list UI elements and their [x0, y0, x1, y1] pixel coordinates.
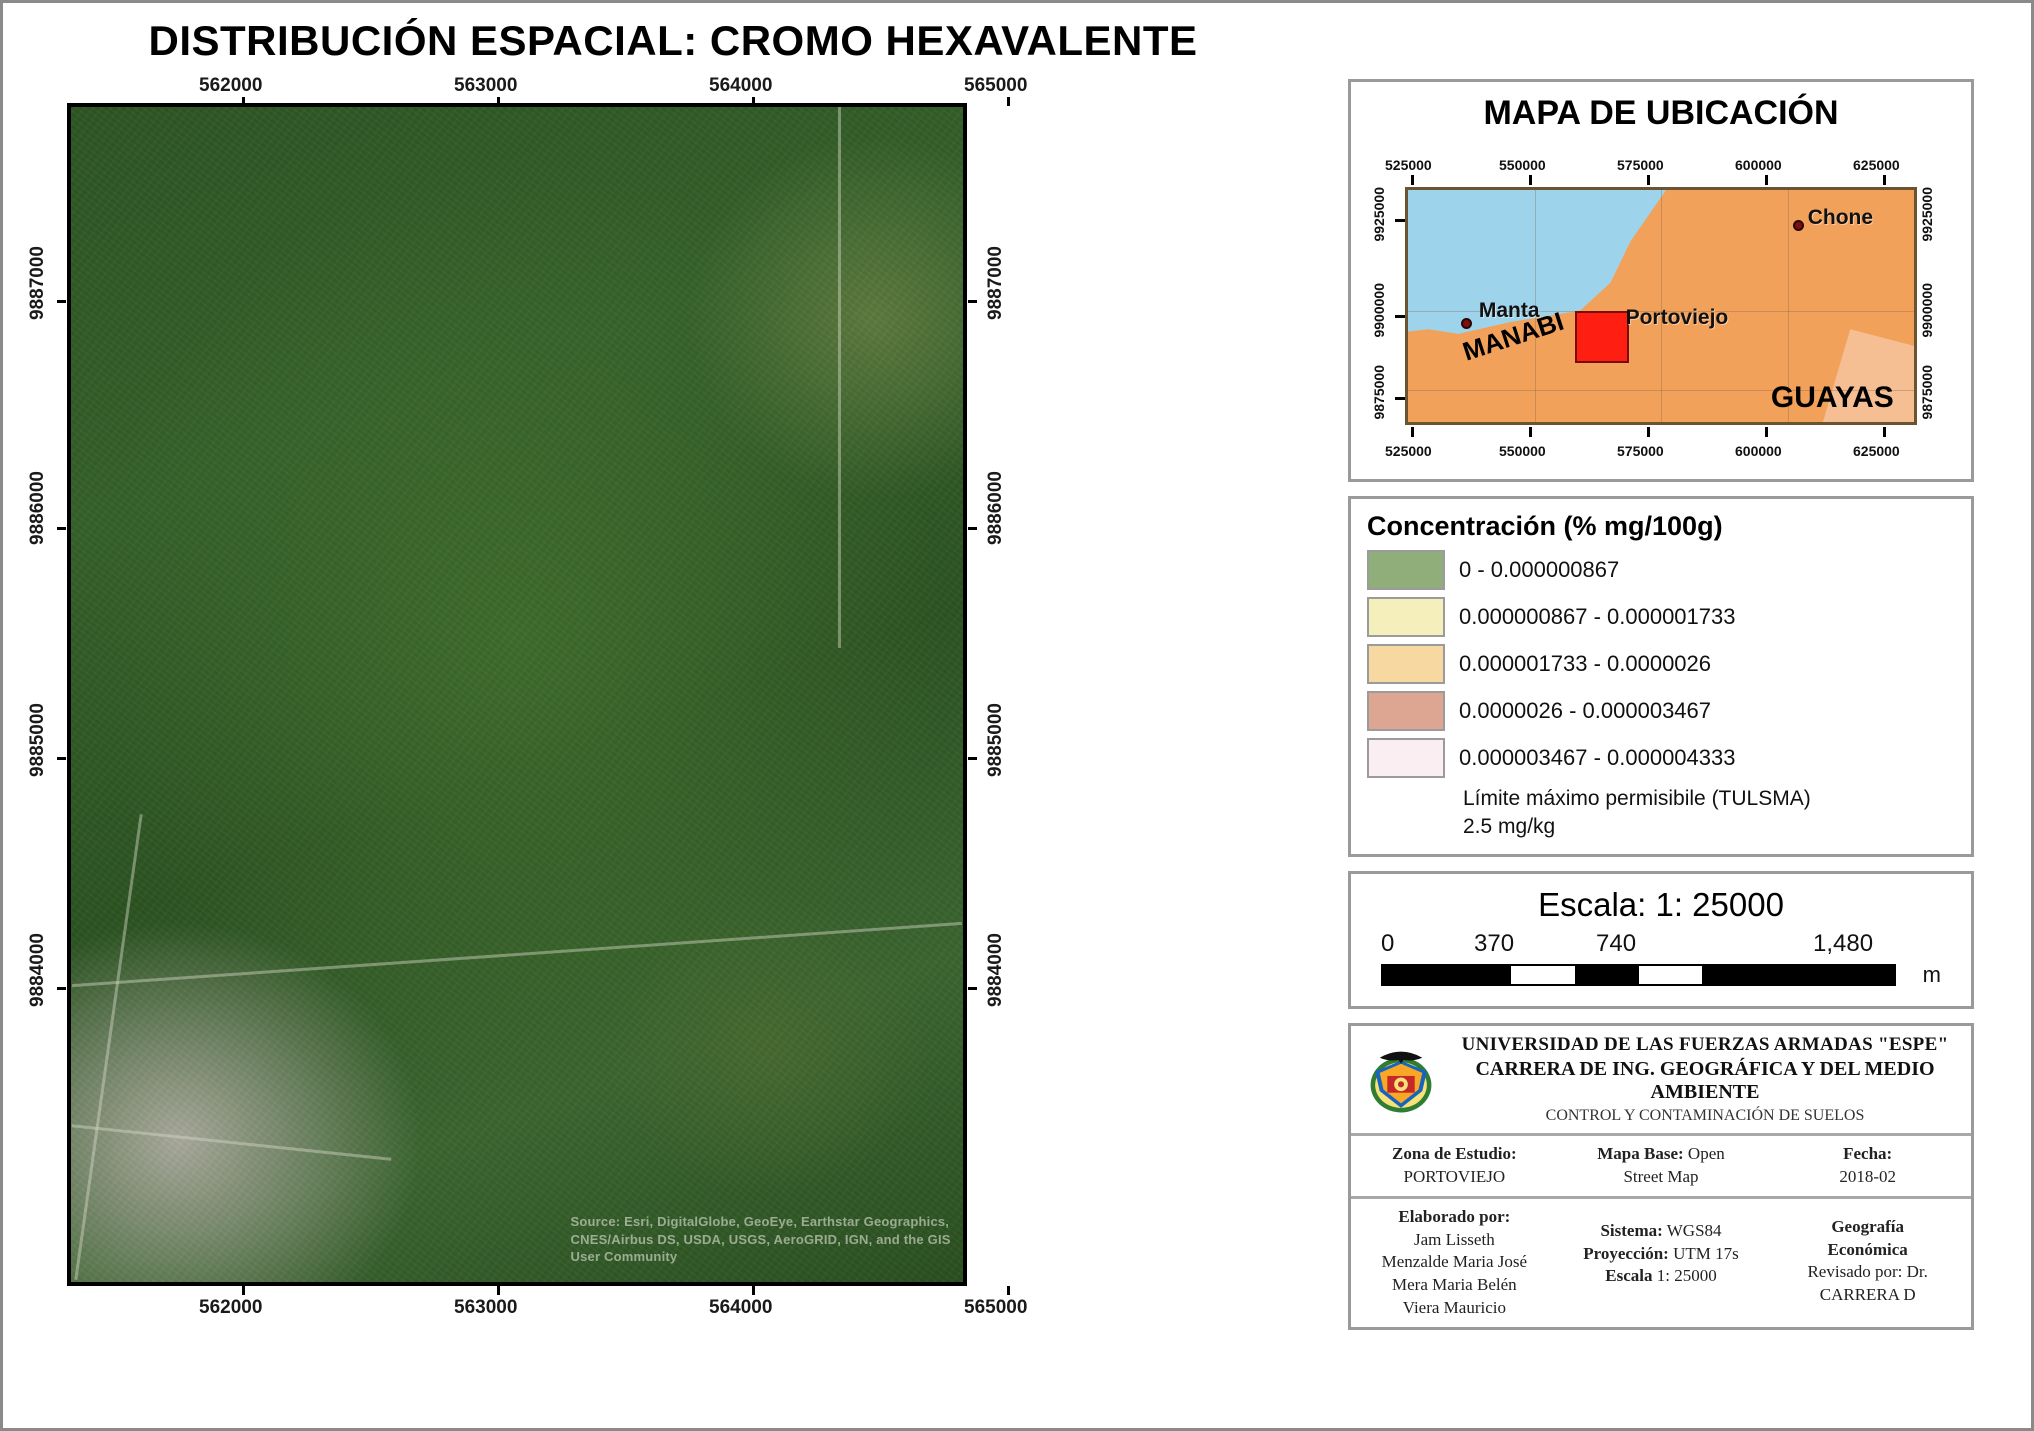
y-axis-tick: [57, 300, 66, 303]
credits-header: UNIVERSIDAD DE LAS FUERZAS ARMADAS "ESPE…: [1351, 1026, 1971, 1133]
credits-zona-value: PORTOVIEJO: [1355, 1166, 1554, 1189]
inset-y-tick-right: 9875000: [1919, 365, 1935, 420]
inset-y-tick-left: 9875000: [1371, 365, 1387, 420]
y-tick-label-right: 9887000: [985, 246, 1007, 320]
inset-y-tick-left: 9925000: [1371, 187, 1387, 242]
legend-label: 0.000003467 - 0.000004333: [1459, 745, 1735, 771]
inset-x-tick-bottom: 550000: [1499, 443, 1546, 459]
credits-zona-cell: Zona de Estudio: PORTOVIEJO: [1351, 1136, 1558, 1196]
legend-swatch: [1367, 738, 1445, 778]
credits-course-line1: Geografía: [1768, 1216, 1967, 1239]
x-axis-tick: [497, 97, 500, 106]
credits-basemap-value: Open: [1688, 1144, 1725, 1163]
scale-label-1480: 1,480: [1813, 930, 1873, 958]
credits-proyeccion-line: Proyección: UTM 17s: [1562, 1243, 1761, 1266]
credits-fecha-label: Fecha:: [1843, 1144, 1892, 1163]
y-axis-tick: [968, 757, 977, 760]
inset-x-axis-tick: [1883, 427, 1886, 437]
y-axis-tick: [57, 527, 66, 530]
inset-x-axis-tick: [1765, 175, 1768, 185]
inset-x-axis-tick: [1883, 175, 1886, 185]
x-tick-label-top: 565000: [964, 75, 1027, 97]
location-inset-box[interactable]: MAPA DE UBICACIÓN 525000 550000 575000 6…: [1348, 79, 1974, 482]
inset-x-tick-top: 575000: [1617, 157, 1664, 173]
credits-author: Jam Lisseth: [1355, 1229, 1554, 1252]
scale-bar-wrapper: m: [1381, 964, 1941, 988]
scale-segment-empty: [1511, 966, 1575, 984]
x-axis-tick: [242, 97, 245, 106]
credits-author: Menzalde Maria José: [1355, 1251, 1554, 1274]
y-tick-label-right: 9886000: [985, 471, 1007, 545]
scale-box: Escala: 1: 25000 0 370 740 1,480 m: [1348, 871, 1974, 1009]
credits-review-line1: Revisado por: Dr.: [1768, 1261, 1967, 1284]
scale-segment-filled: [1383, 966, 1511, 984]
city-dot-chone: [1793, 220, 1804, 231]
credits-program: CARRERA DE ING. GEOGRÁFICA Y DEL MEDIO A…: [1445, 1058, 1965, 1104]
inset-x-tick-bottom: 575000: [1617, 443, 1664, 459]
inset-x-tick-top: 625000: [1853, 157, 1900, 173]
main-map[interactable]: Source: Esri, DigitalGlobe, GeoEye, Eart…: [67, 103, 967, 1286]
legend-label: 0.0000026 - 0.000003467: [1459, 698, 1711, 724]
inset-x-axis-tick: [1529, 427, 1532, 437]
credits-escala-value: 1: 25000: [1657, 1266, 1717, 1285]
credits-row-1: Zona de Estudio: PORTOVIEJO Mapa Base: O…: [1351, 1133, 1971, 1196]
inset-x-tick-bottom: 625000: [1853, 443, 1900, 459]
inset-x-tick-bottom: 600000: [1735, 443, 1782, 459]
legend-label: 0.000000867 - 0.000001733: [1459, 604, 1735, 630]
scale-unit-label: m: [1923, 962, 1941, 988]
x-tick-label-bottom: 562000: [199, 1297, 262, 1319]
city-label-chone: Chone: [1808, 206, 1873, 230]
inset-x-axis-tick: [1411, 427, 1414, 437]
inset-y-tick-left: 9900000: [1371, 283, 1387, 338]
study-area-marker[interactable]: [1575, 311, 1629, 363]
credits-header-text: UNIVERSIDAD DE LAS FUERZAS ARMADAS "ESPE…: [1445, 1034, 1965, 1125]
credits-elaborado-label: Elaborado por:: [1398, 1207, 1510, 1226]
legend-item[interactable]: 0 - 0.000000867: [1367, 550, 1963, 590]
legend-label: 0.000001733 - 0.0000026: [1459, 651, 1711, 677]
inset-x-tick-top: 550000: [1499, 157, 1546, 173]
inset-x-axis-tick: [1765, 427, 1768, 437]
city-label-portoviejo: Portoviejo: [1626, 306, 1729, 330]
x-tick-label-bottom: 564000: [709, 1297, 772, 1319]
scale-segment-empty: [1639, 966, 1703, 984]
y-tick-label-right: 9885000: [985, 703, 1007, 777]
legend-note: Límite máximo permisibile (TULSMA) 2.5 m…: [1463, 785, 1963, 842]
right-panel: MAPA DE UBICACIÓN 525000 550000 575000 6…: [1348, 79, 1974, 1344]
x-axis-tick: [1007, 1286, 1010, 1295]
x-axis-tick: [497, 1286, 500, 1295]
legend-item[interactable]: 0.000001733 - 0.0000026: [1367, 644, 1963, 684]
legend-note-line1: Límite máximo permisibile (TULSMA): [1463, 785, 1963, 813]
credits-proyeccion-label: Proyección:: [1583, 1244, 1669, 1263]
inset-x-axis-tick: [1647, 427, 1650, 437]
inset-x-tick-top: 600000: [1735, 157, 1782, 173]
credits-sistema-value: WGS84: [1667, 1221, 1722, 1240]
inset-x-axis-tick: [1411, 175, 1414, 185]
inset-x-tick-bottom: 525000: [1385, 443, 1432, 459]
credits-review-cell: Geografía Económica Revisado por: Dr. CA…: [1764, 1199, 1971, 1328]
credits-university: UNIVERSIDAD DE LAS FUERZAS ARMADAS "ESPE…: [1445, 1034, 1965, 1056]
inset-map-wrapper: 525000 550000 575000 600000 625000 52500…: [1359, 143, 1963, 471]
inset-y-axis-tick: [1395, 315, 1405, 318]
credits-escala-label: Escala: [1605, 1266, 1652, 1285]
x-tick-label-top: 564000: [709, 75, 772, 97]
credits-author: Viera Mauricio: [1355, 1297, 1554, 1320]
x-axis-tick: [1007, 97, 1010, 106]
province-label-guayas: GUAYAS: [1771, 381, 1894, 415]
inset-y-tick-right: 9900000: [1919, 283, 1935, 338]
y-axis-tick: [57, 757, 66, 760]
legend-swatch: [1367, 691, 1445, 731]
credits-author: Mera Maria Belén: [1355, 1274, 1554, 1297]
scale-tick-labels: 0 370 740 1,480: [1381, 930, 1941, 960]
credits-zona-label: Zona de Estudio:: [1392, 1144, 1517, 1163]
inset-y-axis-tick: [1395, 219, 1405, 222]
x-tick-label-bottom: 565000: [964, 1297, 1027, 1319]
credits-basemap-cell: Mapa Base: Open Street Map: [1558, 1136, 1765, 1196]
legend-note-line2: 2.5 mg/kg: [1463, 813, 1963, 841]
x-tick-label-top: 562000: [199, 75, 262, 97]
credits-crs-cell: Sistema: WGS84 Proyección: UTM 17s Escal…: [1558, 1199, 1765, 1328]
y-tick-label-left: 9885000: [27, 703, 49, 777]
inset-x-axis-tick: [1647, 175, 1650, 185]
credits-basemap-value2: Street Map: [1562, 1166, 1761, 1189]
credits-authors-cell: Elaborado por: Jam Lisseth Menzalde Mari…: [1351, 1199, 1558, 1328]
x-axis-tick: [752, 1286, 755, 1295]
y-tick-label-left: 9887000: [27, 246, 49, 320]
legend-box: Concentración (% mg/100g) 0 - 0.00000086…: [1348, 496, 1974, 857]
legend-title: Concentración (% mg/100g): [1367, 511, 1963, 542]
scale-title: Escala: 1: 25000: [1359, 886, 1963, 924]
legend-swatch: [1367, 644, 1445, 684]
credits-course-line2: Económica: [1768, 1239, 1967, 1262]
y-axis-tick: [57, 987, 66, 990]
university-logo-icon: [1363, 1041, 1439, 1117]
x-axis-tick: [242, 1286, 245, 1295]
legend-swatch: [1367, 597, 1445, 637]
scale-bar: [1381, 964, 1896, 986]
credits-box: UNIVERSIDAD DE LAS FUERZAS ARMADAS "ESPE…: [1348, 1023, 1974, 1331]
y-axis-tick: [968, 527, 977, 530]
legend-swatch: [1367, 550, 1445, 590]
credits-fecha-value: 2018-02: [1768, 1166, 1967, 1189]
city-dot-manta: [1461, 318, 1472, 329]
y-tick-label-left: 9886000: [27, 471, 49, 545]
credits-row-2: Elaborado por: Jam Lisseth Menzalde Mari…: [1351, 1196, 1971, 1328]
credits-proyeccion-value: UTM 17s: [1673, 1244, 1739, 1263]
credits-basemap-label: Mapa Base:: [1597, 1144, 1683, 1163]
y-tick-label-left: 9884000: [27, 933, 49, 1007]
credits-sistema-line: Sistema: WGS84: [1562, 1220, 1761, 1243]
credits-fecha-cell: Fecha: 2018-02: [1764, 1136, 1971, 1196]
y-axis-tick: [968, 987, 977, 990]
scale-label-740: 740: [1596, 930, 1636, 958]
credits-course: CONTROL Y CONTAMINACIÓN DE SUELOS: [1445, 1107, 1965, 1125]
legend-label: 0 - 0.000000867: [1459, 557, 1619, 583]
scale-segment-filled: [1575, 966, 1639, 984]
x-tick-label-top: 563000: [454, 75, 517, 97]
page-title: DISTRIBUCIÓN ESPACIAL: CROMO HEXAVALENTE: [3, 17, 1343, 65]
y-axis-tick: [968, 300, 977, 303]
credits-review-line2: CARRERA D: [1768, 1284, 1967, 1307]
x-axis-tick: [752, 97, 755, 106]
legend-item[interactable]: 0.000003467 - 0.000004333: [1367, 738, 1963, 778]
inset-title: MAPA DE UBICACIÓN: [1359, 94, 1963, 133]
credits-sistema-label: Sistema:: [1600, 1221, 1662, 1240]
y-tick-label-right: 9884000: [985, 933, 1007, 1007]
inset-y-tick-right: 9925000: [1919, 187, 1935, 242]
scale-label-0: 0: [1381, 930, 1394, 958]
inset-map-canvas[interactable]: Chone Manta Portoviejo MANABI GUAYAS: [1405, 187, 1917, 425]
inset-x-tick-top: 525000: [1385, 157, 1432, 173]
credits-escala-line: Escala 1: 25000: [1562, 1265, 1761, 1288]
legend-item[interactable]: 0.0000026 - 0.000003467: [1367, 691, 1963, 731]
legend-item[interactable]: 0.000000867 - 0.000001733: [1367, 597, 1963, 637]
scale-segment-filled: [1702, 966, 1894, 984]
map-page: DISTRIBUCIÓN ESPACIAL: CROMO HEXAVALENTE…: [0, 0, 2034, 1431]
basemap-attribution: Source: Esri, DigitalGlobe, GeoEye, Eart…: [571, 1213, 955, 1266]
x-tick-label-bottom: 563000: [454, 1297, 517, 1319]
inset-y-axis-tick: [1395, 397, 1405, 400]
inset-x-axis-tick: [1529, 175, 1532, 185]
scale-label-370: 370: [1474, 930, 1514, 958]
